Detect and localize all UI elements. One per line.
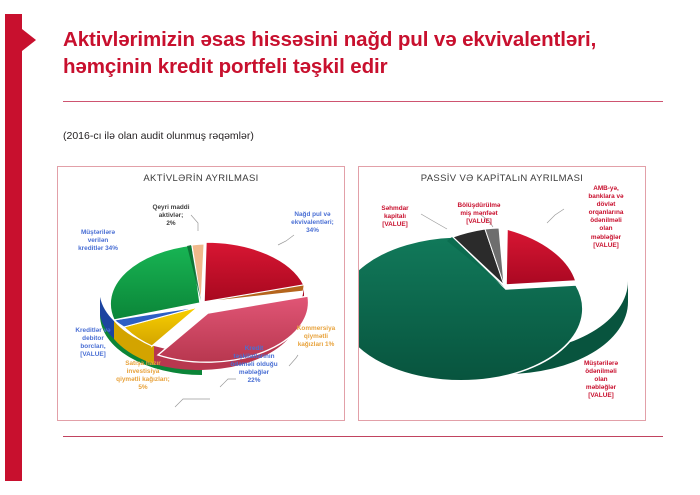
left-accent-bar [5, 14, 22, 481]
title-divider [63, 101, 663, 102]
label-loans: Müştərilərə verilən kreditlər 34% [63, 229, 133, 253]
label-receivables: Kreditlər və debitor borcları, [VALUE] [62, 327, 124, 359]
leader-line-cash [278, 235, 294, 245]
label-due-to-cust: Müştərilərə ödənilməli olan məbləğlər [V… [567, 360, 635, 400]
label-afs: Satışa hazır investisiya qiymətli kağızl… [108, 360, 178, 392]
slice-due-to-banks [506, 229, 576, 285]
label-retained: Bölüşdürülmə miş mənfəət [VALUE] [443, 202, 515, 226]
assets-pie-svg [58, 167, 346, 422]
page-title: Aktivlərimizin əsas hissəsini nağd pul v… [63, 26, 663, 80]
label-commercial: Kommersiya qiymətli kağızları 1% [286, 325, 346, 349]
accent-arrow-icon [22, 29, 36, 51]
label-equity: Səhmdar kapitalı [VALUE] [364, 205, 426, 229]
label-due-from: Kredit təşkilatlarının ödəməli olduğu mə… [220, 345, 288, 385]
leader-line-commercial [289, 355, 298, 366]
assets-chart-panel: AKTİVLƏRİN AYRILMASI [57, 166, 345, 421]
slice-cash [204, 242, 304, 302]
liabilities-chart-panel: PASSİV VƏ KAPİTALıN AYRILMASI [358, 166, 646, 421]
page-subtitle: (2016-cı ilə olan audit olunmuş rəqəmlər… [63, 130, 254, 142]
label-cash: Nağd pul və ekvivalentləri; 34% [280, 211, 345, 235]
leader-line-due-to-banks [547, 209, 564, 223]
label-due-to-banks: AMB-yə, banklara və dövlət orqanlarına ö… [575, 185, 637, 250]
leader-line-due-from [175, 399, 210, 407]
label-intangible: Qeyri maddi aktivlər; 2% [140, 204, 202, 228]
footer-divider [63, 436, 663, 437]
